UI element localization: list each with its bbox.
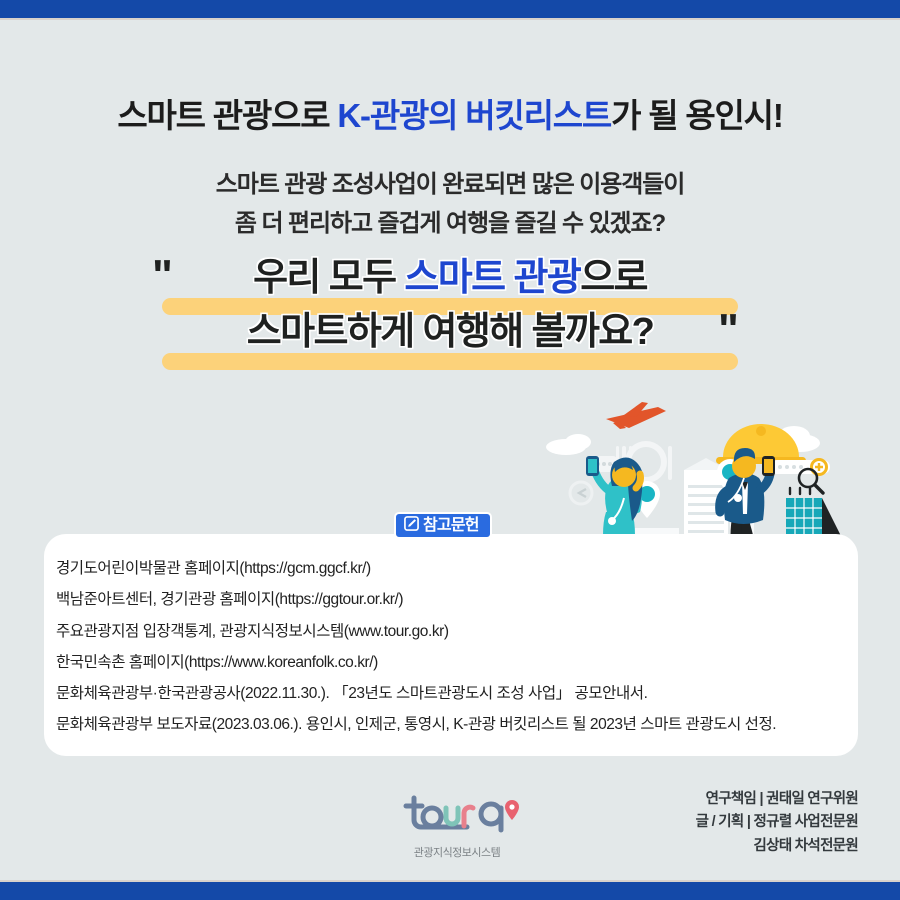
credit-line: 연구책임 | 권태일 연구위원: [696, 788, 858, 811]
tourgo-logo: 관광지식정보시스템: [382, 790, 532, 860]
pull-quote: " " 우리 모두 스마트 관광으로 스마트하게 여행해 볼까요?: [0, 252, 900, 360]
quote-line-2: 스마트하게 여행해 볼까요?: [0, 306, 900, 360]
credits-block: 연구책임 | 권태일 연구위원 글 / 기획 | 정규렬 사업전문원 김상태 차…: [696, 788, 858, 858]
tourgo-logo-mark: [392, 790, 522, 836]
card-news-page: 스마트 관광으로 K-관광의 버킷리스트가 될 용인시! 스마트 관광 조성사업…: [0, 0, 900, 900]
headline-part-1: 스마트 관광으로: [117, 97, 337, 134]
reference-item: 문화체육관광부 보도자료(2023.03.06.). 용인시, 인제군, 통영시…: [56, 709, 856, 740]
reference-item: 문화체육관광부·한국관광공사(2022.11.30.). 「23년도 스마트관광…: [56, 678, 856, 709]
quote-line-2-text: 스마트하게 여행해 볼까요?: [243, 306, 658, 360]
references-list: 경기도어린이박물관 홈페이지(https://gcm.ggcf.kr/) 백남준…: [56, 553, 856, 741]
share-icon: [570, 482, 592, 504]
reference-item: 경기도어린이박물관 홈페이지(https://gcm.ggcf.kr/): [56, 553, 856, 584]
pencil-square-icon: [404, 516, 419, 536]
subtitle-block: 스마트 관광 조성사업이 완료되면 많은 이용객들이 좀 더 편리하고 즐겁게 …: [0, 166, 900, 244]
headline-part-2: 가 될 용인시!: [611, 97, 783, 134]
quote-open-mark: ": [152, 254, 171, 298]
page-title: 스마트 관광으로 K-관광의 버킷리스트가 될 용인시!: [0, 96, 900, 136]
credit-line: 글 / 기획 | 정규렬 사업전문원: [696, 811, 858, 834]
credit-line: 김상태 차석전문원: [696, 835, 858, 858]
top-accent-bar: [0, 0, 900, 20]
references-badge-label: 참고문헌: [423, 518, 479, 534]
quote-close-mark: ": [718, 308, 737, 352]
subtitle-line-2: 좀 더 편리하고 즐겁게 여행을 즐길 수 있겠죠?: [0, 205, 900, 244]
quote-line-1-highlight: 스마트 관광: [404, 257, 580, 299]
airplane-icon: [606, 402, 666, 429]
quote-line-1: 우리 모두 스마트 관광으로: [0, 252, 900, 306]
quote-line-1-post: 으로: [580, 257, 647, 299]
references-badge: 참고문헌: [394, 512, 492, 539]
quote-line-1-pre: 우리 모두: [253, 257, 404, 299]
logo-subtitle: 관광지식정보시스템: [382, 844, 532, 860]
reference-item: 한국민속촌 홈페이지(https://www.koreanfolk.co.kr/…: [56, 647, 856, 678]
calendar-icon: [786, 488, 843, 540]
bottom-accent-bar: [0, 880, 900, 900]
reference-item: 백남준아트센터, 경기관광 홈페이지(https://ggtour.or.kr/…: [56, 584, 856, 615]
reference-item: 주요관광지점 입장객통계, 관광지식정보시스템(www.tour.go.kr): [56, 616, 856, 647]
subtitle-line-1: 스마트 관광 조성사업이 완료되면 많은 이용객들이: [0, 166, 900, 205]
headline-highlight: K-관광의 버킷리스트: [337, 97, 611, 134]
